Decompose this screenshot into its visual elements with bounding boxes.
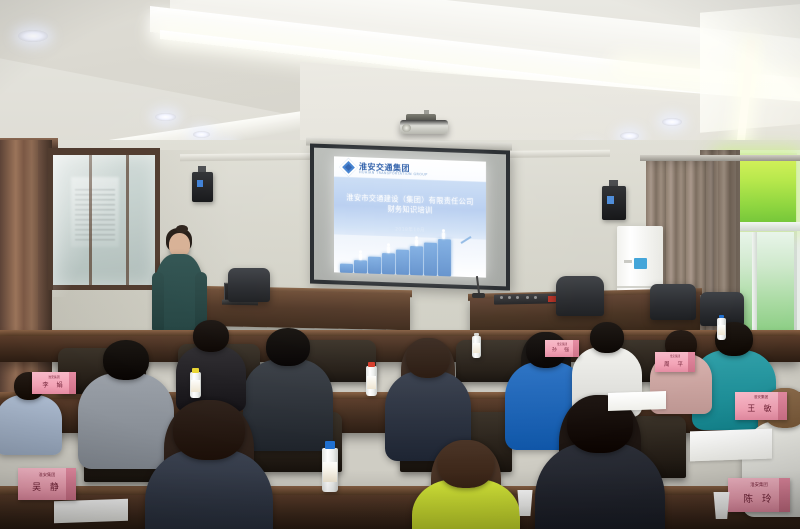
name-tent-card: 淮安集团周 平 xyxy=(655,352,695,372)
bottle-cap xyxy=(368,362,375,367)
water-bottle xyxy=(366,366,377,396)
bottle-label xyxy=(323,462,336,482)
name-card-fold xyxy=(573,340,579,357)
bottle-cap xyxy=(325,441,335,448)
name-card-fold xyxy=(778,392,787,420)
bottle-cap xyxy=(192,368,199,372)
name-card-fold xyxy=(779,478,790,512)
name-tent-card: 淮安集团李 娟 xyxy=(32,372,76,394)
name-tent-card: 淮安集团吴 静 xyxy=(18,468,76,500)
bottle-label xyxy=(473,343,481,353)
desk-items-layer: 淮安集团吴 静淮安集团陈 玲淮安集团王 敏淮安集团李 娟淮安集团周 平淮安集团孙… xyxy=(0,0,800,529)
conference-room-photo: 淮安交通集团 HUAIAN TRANSPORTATION GROUP 淮安市交通… xyxy=(0,0,800,529)
water-bottle xyxy=(190,372,201,398)
paper-cup xyxy=(712,492,731,519)
handout-paper xyxy=(54,499,128,524)
bottle-label xyxy=(718,325,726,335)
name-tent-card: 淮安集团王 敏 xyxy=(735,392,787,420)
name-card-fold xyxy=(688,352,695,372)
water-bottle xyxy=(717,318,726,340)
handout-paper xyxy=(690,429,772,462)
bottle-label xyxy=(367,376,376,390)
name-tent-card: 淮安集团陈 玲 xyxy=(728,478,790,512)
name-card-fold xyxy=(66,468,76,500)
handout-paper xyxy=(608,391,666,411)
bottle-cap xyxy=(474,333,480,337)
name-tent-card: 淮安集团孙 强 xyxy=(545,340,579,357)
paper-cup xyxy=(516,490,534,516)
bottle-label xyxy=(191,380,200,392)
water-bottle xyxy=(472,336,481,358)
name-card-fold xyxy=(69,372,76,394)
bottle-cap xyxy=(719,315,725,319)
water-bottle xyxy=(322,448,338,492)
